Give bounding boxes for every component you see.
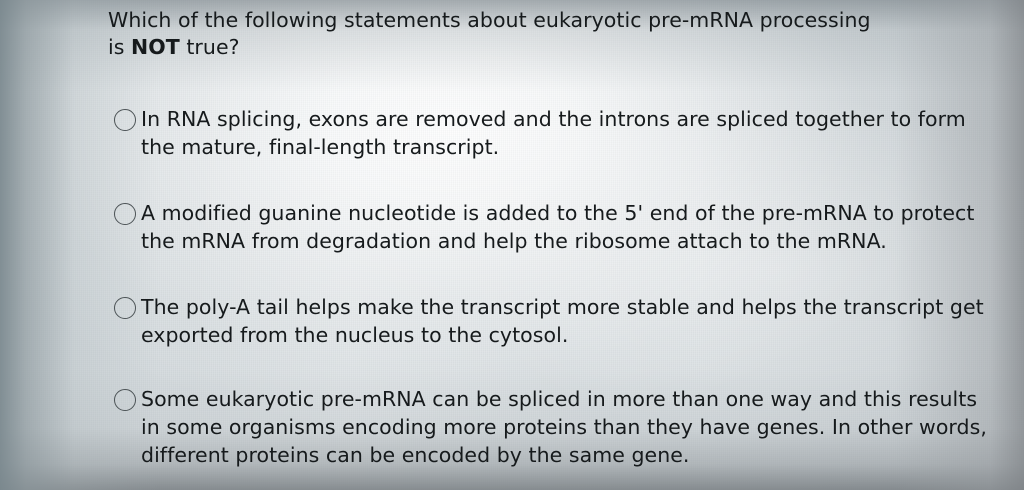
question-stem-emphasis-not: NOT [131, 35, 180, 59]
answer-option-b[interactable]: A modified guanine nucleotide is added t… [114, 199, 993, 255]
answer-option-a[interactable]: In RNA splicing, exons are removed and t… [114, 105, 993, 161]
answer-option-d[interactable]: Some eukaryotic pre-mRNA can be spliced … [114, 385, 993, 469]
question-stem: Which of the following statements about … [108, 7, 918, 61]
question-stem-line-2-prefix: is [108, 35, 131, 59]
answer-option-a-label: In RNA splicing, exons are removed and t… [141, 105, 993, 161]
quiz-question-screenshot: Which of the following statements about … [0, 0, 1024, 490]
radio-button-icon-option-c[interactable] [114, 297, 136, 319]
question-stem-line-2-suffix: true? [180, 35, 240, 59]
answer-option-b-label: A modified guanine nucleotide is added t… [141, 199, 993, 255]
radio-button-icon-option-d[interactable] [114, 389, 136, 411]
radio-button-icon-option-b[interactable] [114, 203, 136, 225]
question-content: Which of the following statements about … [0, 0, 1024, 490]
radio-button-icon-option-a[interactable] [114, 109, 136, 131]
question-stem-line-1: Which of the following statements about … [108, 8, 871, 32]
answer-option-c-label: The poly-A tail helps make the transcrip… [141, 293, 993, 349]
answer-option-c[interactable]: The poly-A tail helps make the transcrip… [114, 293, 993, 349]
answer-option-d-label: Some eukaryotic pre-mRNA can be spliced … [141, 385, 993, 469]
